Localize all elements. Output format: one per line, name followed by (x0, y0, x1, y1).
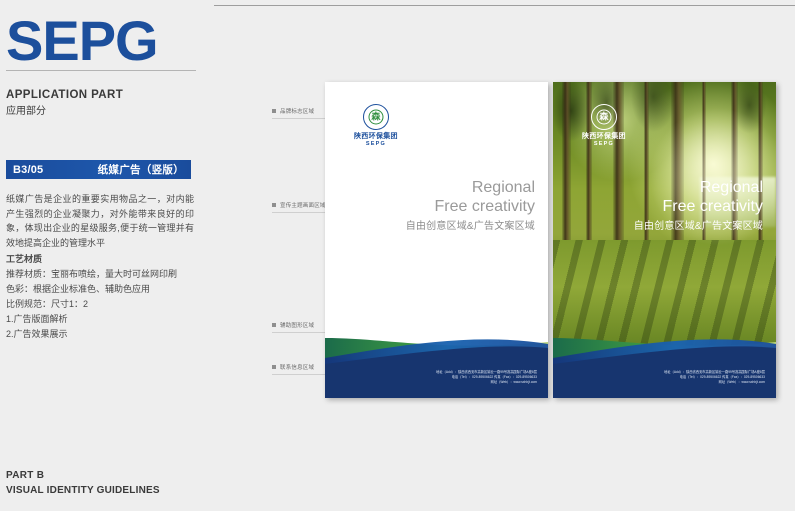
application-part-heading: APPLICATION PART 应用部分 (6, 88, 196, 119)
callout-label-wrap: 辅助图形区域 (272, 321, 314, 329)
poster-logo: 森 陕西环保集团 SEPG (582, 104, 626, 148)
callout-label: 联系信息区域 (280, 363, 314, 371)
section-description: 纸媒广告是企业的重要实用物品之一，对内能产生强烈的企业凝聚力，对外能带来良好的印… (6, 192, 194, 250)
headline-line1: Regional (634, 178, 763, 197)
wave-graphic (325, 318, 548, 398)
section-name: 纸媒广告（竖版） (98, 162, 184, 177)
poster-contact-block: 地址（Add）：陕西省西安市高新区锦业一路99号赛高国际广场A座8层 电话（Te… (664, 370, 765, 385)
bullet-square-icon (272, 109, 276, 113)
poster-effect-presentation[interactable]: 森 陕西环保集团 SEPG Regional Free creativity 自… (553, 82, 776, 398)
headline-line1: Regional (406, 178, 535, 197)
emblem-mark: 森 (599, 113, 608, 122)
wave-svg (325, 318, 548, 398)
bullet-square-icon (272, 323, 276, 327)
callout-label: 品牌标志区域 (280, 107, 314, 115)
footer-guidelines-label: VISUAL IDENTITY GUIDELINES (6, 483, 196, 498)
spec-row: 比例规范：尺寸1：2 (6, 297, 194, 312)
footer-part-label: PART B (6, 468, 196, 483)
poster-logo-en: SEPG (366, 141, 386, 148)
sepg-emblem-icon: 森 (363, 104, 389, 130)
headline-cn: 自由创意区域&广告文案区域 (634, 219, 763, 235)
poster-contact-block: 地址（Add）：陕西省西安市高新区锦业一路99号赛高国际广场A座8层 电话（Te… (436, 370, 537, 385)
poster-logo: 森 陕西环保集团 SEPG (354, 104, 398, 148)
section-code: B3/05 (13, 164, 43, 176)
sepg-emblem-icon: 森 (591, 104, 617, 130)
contact-web: 网址（Web）：www.sxhbjt.com (664, 380, 765, 385)
callout-label-wrap: 宣传主题画面区域 (272, 201, 326, 209)
spec-row: 推荐材质：宝丽布喷绘，量大时可丝网印刷 (6, 267, 194, 282)
poster-logo-cn: 陕西环保集团 (582, 133, 626, 141)
sepg-wordmark: SEPG (6, 9, 158, 72)
contact-web: 网址（Web）：www.sxhbjt.com (436, 380, 537, 385)
logo-divider (6, 70, 196, 71)
callout-label: 辅助图形区域 (280, 321, 314, 329)
section-title-bar: B3/05 纸媒广告（竖版） (6, 160, 191, 179)
guideline-page: SEPG APPLICATION PART 应用部分 B3/05 纸媒广告（竖版… (0, 0, 795, 511)
poster-logo-en: SEPG (594, 141, 614, 148)
emblem-mark: 森 (371, 113, 380, 122)
left-info-panel: SEPG APPLICATION PART 应用部分 B3/05 纸媒广告（竖版… (0, 0, 207, 511)
wave-svg (553, 318, 776, 398)
spec-list: 工艺材质 推荐材质：宝丽布喷绘，量大时可丝网印刷 色彩：根据企业标准色、辅助色应… (6, 252, 194, 342)
application-part-cn: 应用部分 (6, 104, 196, 119)
callout-label-wrap: 品牌标志区域 (272, 107, 314, 115)
spec-row: 2.广告效果展示 (6, 327, 194, 342)
bullet-square-icon (272, 365, 276, 369)
callout-label: 宣传主题画面区域 (280, 201, 326, 209)
headline-line2: Free creativity (406, 197, 535, 216)
poster-logo-cn: 陕西环保集团 (354, 133, 398, 141)
spec-row: 色彩：根据企业标准色、辅助色应用 (6, 282, 194, 297)
brand-wordmark-text: SEPG (6, 6, 196, 76)
poster-headline: Regional Free creativity 自由创意区域&广告文案区域 (406, 178, 535, 235)
application-part-en: APPLICATION PART (6, 88, 196, 103)
headline-line2: Free creativity (634, 197, 763, 216)
spec-heading: 工艺材质 (6, 252, 194, 267)
wave-graphic (553, 318, 776, 398)
artboard-panel: 品牌标志区域 宣传主题画面区域 辅助图形区域 联系信息区域 (207, 0, 795, 511)
brand-wordmark: SEPG (6, 6, 196, 76)
spec-row: 1.广告版面解析 (6, 312, 194, 327)
page-footer: PART B VISUAL IDENTITY GUIDELINES (6, 468, 196, 498)
poster-layout-analysis[interactable]: 森 陕西环保集团 SEPG Regional Free creativity 自… (325, 82, 548, 398)
bullet-square-icon (272, 203, 276, 207)
poster-headline: Regional Free creativity 自由创意区域&广告文案区域 (634, 178, 763, 235)
headline-cn: 自由创意区域&广告文案区域 (406, 219, 535, 235)
callout-label-wrap: 联系信息区域 (272, 363, 314, 371)
